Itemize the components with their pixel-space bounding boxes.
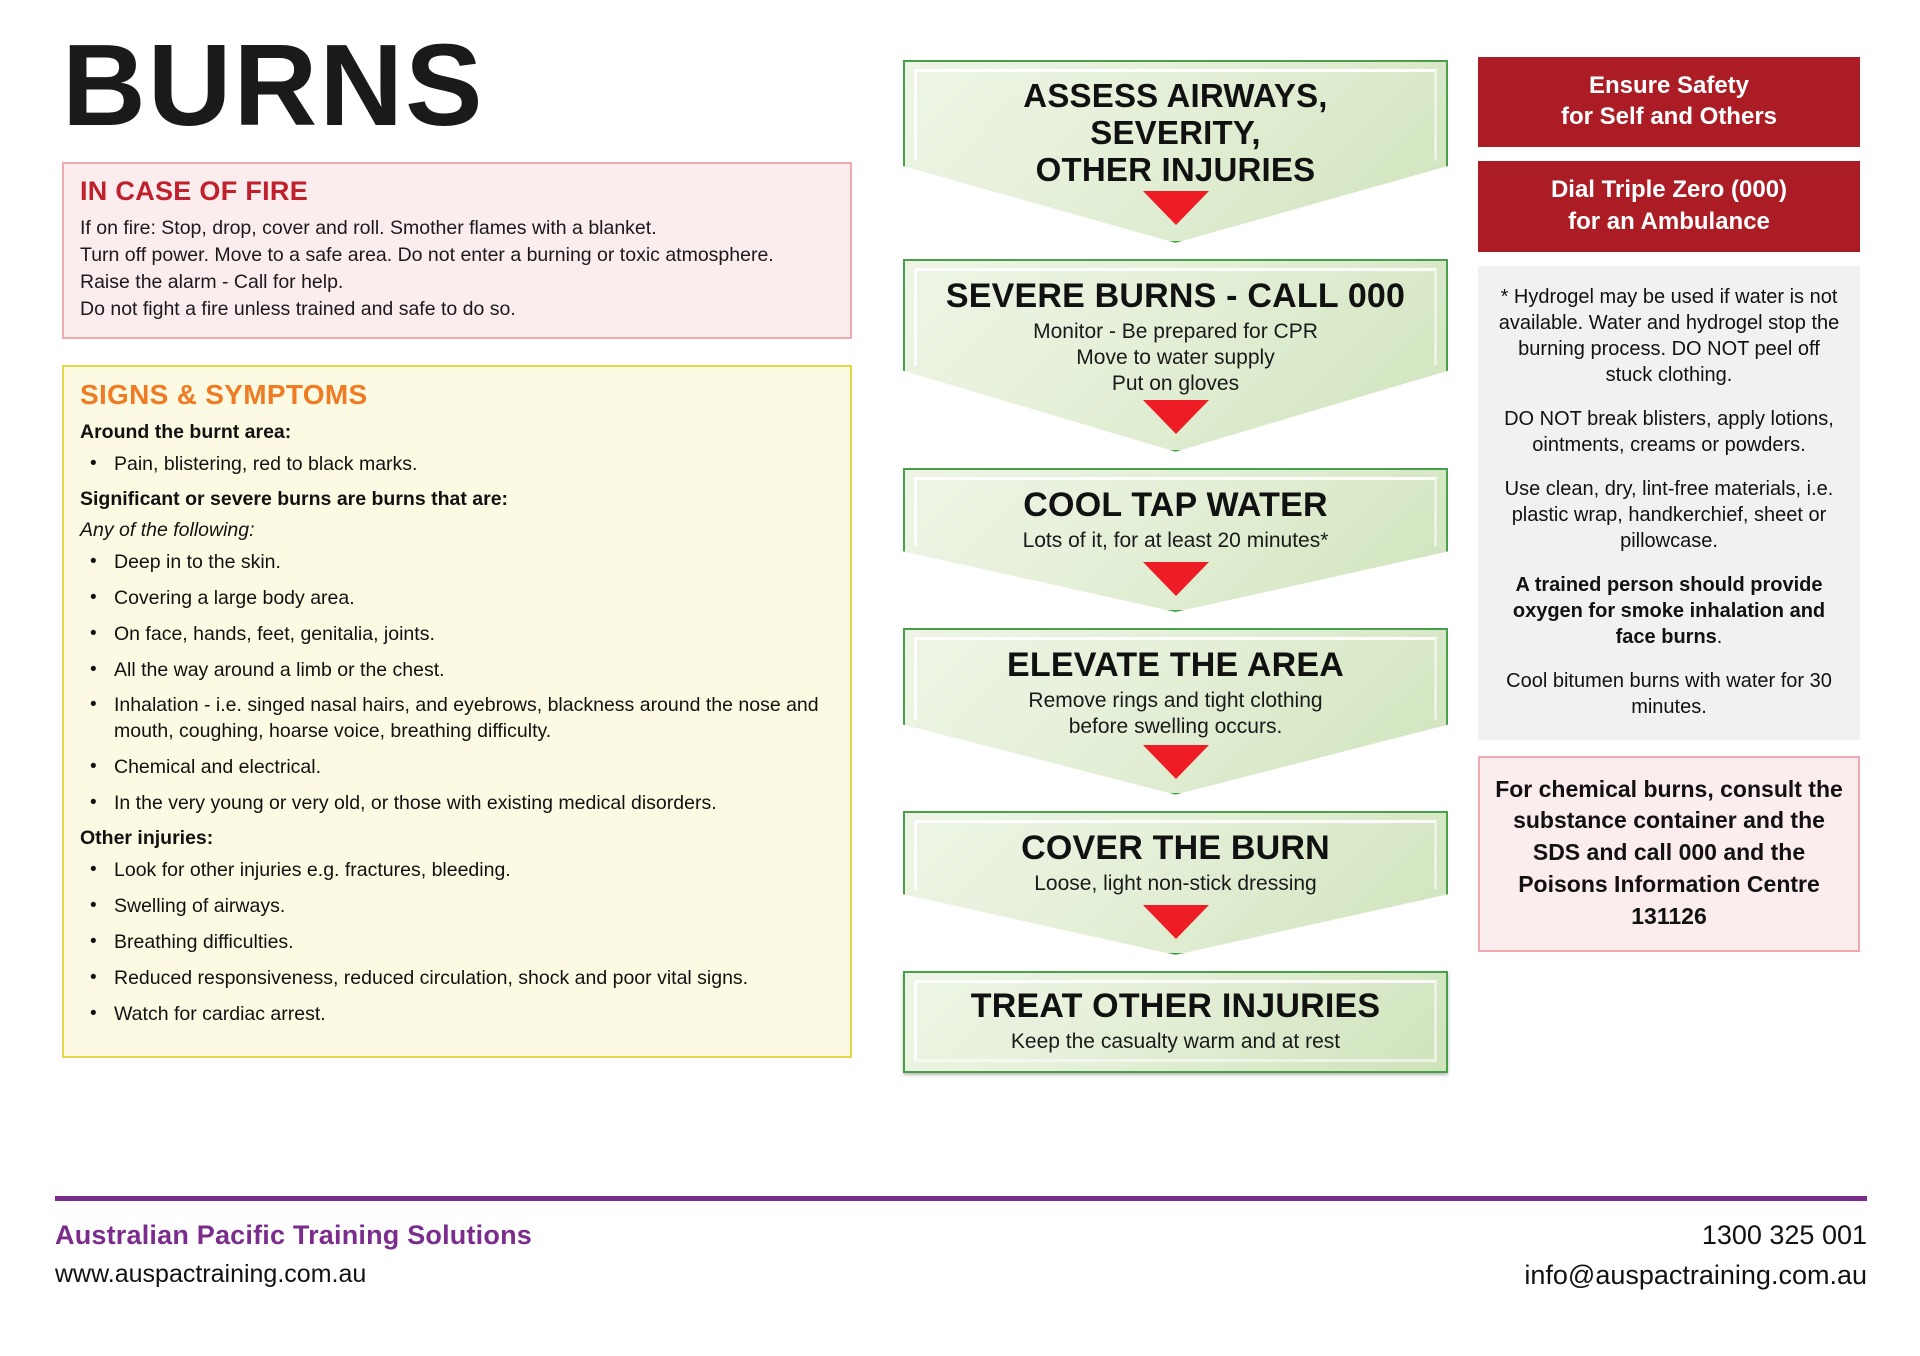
list-item: Watch for cardiac arrest. <box>80 1002 834 1028</box>
ensure-safety-line-1: Ensure Safety <box>1488 70 1850 101</box>
note-blisters: DO NOT break blisters, apply lotions, oi… <box>1494 406 1844 458</box>
down-arrow-icon <box>1143 562 1209 596</box>
list-item: On face, hands, feet, genitalia, joints. <box>80 622 834 648</box>
phone-number[interactable]: 1300 325 001 <box>1524 1220 1867 1251</box>
footer-left: Australian Pacific Training Solutions ww… <box>55 1220 532 1289</box>
footer-divider <box>55 1196 1867 1201</box>
down-arrow-icon <box>1143 905 1209 939</box>
flow-step-cover-burn: COVER THE BURN Loose, light non-stick dr… <box>903 811 1448 955</box>
list-item: Swelling of airways. <box>80 894 834 920</box>
ensure-safety-line-2: for Self and Others <box>1488 101 1850 132</box>
flow-step-title-line: OTHER INJURIES <box>931 152 1420 189</box>
signs-and-symptoms-heading: SIGNS & SYMPTOMS <box>80 379 834 411</box>
note-oxygen: A trained person should provide oxygen f… <box>1494 572 1844 650</box>
any-of-the-following-label: Any of the following: <box>80 519 834 542</box>
flow-step-title-line: SEVERITY, <box>931 115 1420 152</box>
flow-step-sub-line: Remove rings and tight clothing <box>931 688 1420 714</box>
fire-line-4: Do not fight a fire unless trained and s… <box>80 296 834 323</box>
fire-line-1: If on fire: Stop, drop, cover and roll. … <box>80 215 834 242</box>
flow-step-title: SEVERE BURNS - CALL 000 <box>931 277 1420 315</box>
flow-step-assess: ASSESS AIRWAYS, SEVERITY, OTHER INJURIES <box>903 60 1448 243</box>
flow-step-sub-line: Move to water supply <box>931 345 1420 371</box>
page-title: BURNS <box>62 30 852 140</box>
left-column: BURNS IN CASE OF FIRE If on fire: Stop, … <box>62 30 852 1058</box>
down-arrow-icon <box>1143 400 1209 434</box>
dial-triple-zero-line-2: for an Ambulance <box>1488 206 1850 237</box>
poster-root: BURNS IN CASE OF FIRE If on fire: Stop, … <box>0 0 1920 1356</box>
other-injuries-list: Look for other injuries e.g. fractures, … <box>80 858 834 1028</box>
list-item: Look for other injuries e.g. fractures, … <box>80 858 834 884</box>
list-item: Reduced responsiveness, reduced circulat… <box>80 966 834 992</box>
list-item: Pain, blistering, red to black marks. <box>80 452 834 478</box>
note-bitumen: Cool bitumen burns with water for 30 min… <box>1494 668 1844 720</box>
in-case-of-fire-panel: IN CASE OF FIRE If on fire: Stop, drop, … <box>62 162 852 339</box>
severe-burns-list: Deep in to the skin. Covering a large bo… <box>80 550 834 817</box>
flow-step-treat-other-injuries: TREAT OTHER INJURIES Keep the casualty w… <box>903 971 1448 1073</box>
burnt-area-subheading: Around the burnt area: <box>80 421 834 444</box>
flow-step-title: TREAT OTHER INJURIES <box>931 987 1420 1025</box>
treatment-notes-panel: * Hydrogel may be used if water is not a… <box>1478 266 1860 740</box>
flow-step-sub-line: Loose, light non-stick dressing <box>931 871 1420 897</box>
flow-step-title: COOL TAP WATER <box>931 486 1420 524</box>
flow-step-cool-tap-water: COOL TAP WATER Lots of it, for at least … <box>903 468 1448 612</box>
ensure-safety-banner: Ensure Safety for Self and Others <box>1478 57 1860 147</box>
organisation-name: Australian Pacific Training Solutions <box>55 1220 532 1251</box>
signs-and-symptoms-panel: SIGNS & SYMPTOMS Around the burnt area: … <box>62 365 852 1058</box>
email-address[interactable]: info@auspactraining.com.au <box>1524 1260 1867 1291</box>
flow-step-elevate: ELEVATE THE AREA Remove rings and tight … <box>903 628 1448 795</box>
footer-right: 1300 325 001 info@auspactraining.com.au <box>1524 1220 1867 1291</box>
flow-step-sub-line: Keep the casualty warm and at rest <box>931 1029 1420 1055</box>
treatment-flow-column: ASSESS AIRWAYS, SEVERITY, OTHER INJURIES… <box>903 60 1448 1089</box>
flow-step-severe-burns: SEVERE BURNS - CALL 000 Monitor - Be pre… <box>903 259 1448 452</box>
right-column: Ensure Safety for Self and Others Dial T… <box>1478 57 1860 952</box>
flow-step-title: ELEVATE THE AREA <box>931 646 1420 684</box>
website-link[interactable]: www.auspactraining.com.au <box>55 1260 532 1289</box>
flow-step-sub-line: before swelling occurs. <box>931 714 1420 740</box>
list-item: Inhalation - i.e. singed nasal hairs, an… <box>80 693 834 745</box>
note-oxygen-bold: A trained person should provide oxygen f… <box>1513 574 1825 648</box>
severe-burns-subheading: Significant or severe burns are burns th… <box>80 488 834 511</box>
flow-step-title-line: ASSESS AIRWAYS, <box>931 78 1420 115</box>
dial-triple-zero-line-1: Dial Triple Zero (000) <box>1488 174 1850 205</box>
footer: Australian Pacific Training Solutions ww… <box>55 1212 1867 1322</box>
down-arrow-icon <box>1143 191 1209 225</box>
list-item: Deep in to the skin. <box>80 550 834 576</box>
list-item: Breathing difficulties. <box>80 930 834 956</box>
note-oxygen-tail: . <box>1717 626 1723 648</box>
dial-triple-zero-banner: Dial Triple Zero (000) for an Ambulance <box>1478 161 1860 251</box>
down-arrow-icon <box>1143 745 1209 779</box>
fire-line-3: Raise the alarm - Call for help. <box>80 269 834 296</box>
list-item: Covering a large body area. <box>80 586 834 612</box>
flow-step-sub-line: Lots of it, for at least 20 minutes* <box>931 528 1420 554</box>
note-hydrogel: * Hydrogel may be used if water is not a… <box>1494 284 1844 388</box>
other-injuries-subheading: Other injuries: <box>80 827 834 850</box>
list-item: In the very young or very old, or those … <box>80 791 834 817</box>
chemical-burns-panel: For chemical burns, consult the substanc… <box>1478 756 1860 953</box>
burnt-area-list: Pain, blistering, red to black marks. <box>80 452 834 478</box>
list-item: Chemical and electrical. <box>80 755 834 781</box>
flow-step-sub-line: Put on gloves <box>931 371 1420 397</box>
flow-step-sub-line: Monitor - Be prepared for CPR <box>931 319 1420 345</box>
flow-step-title: COVER THE BURN <box>931 829 1420 867</box>
fire-line-2: Turn off power. Move to a safe area. Do … <box>80 242 834 269</box>
note-materials: Use clean, dry, lint-free materials, i.e… <box>1494 476 1844 554</box>
list-item: All the way around a limb or the chest. <box>80 658 834 684</box>
in-case-of-fire-heading: IN CASE OF FIRE <box>80 176 834 207</box>
